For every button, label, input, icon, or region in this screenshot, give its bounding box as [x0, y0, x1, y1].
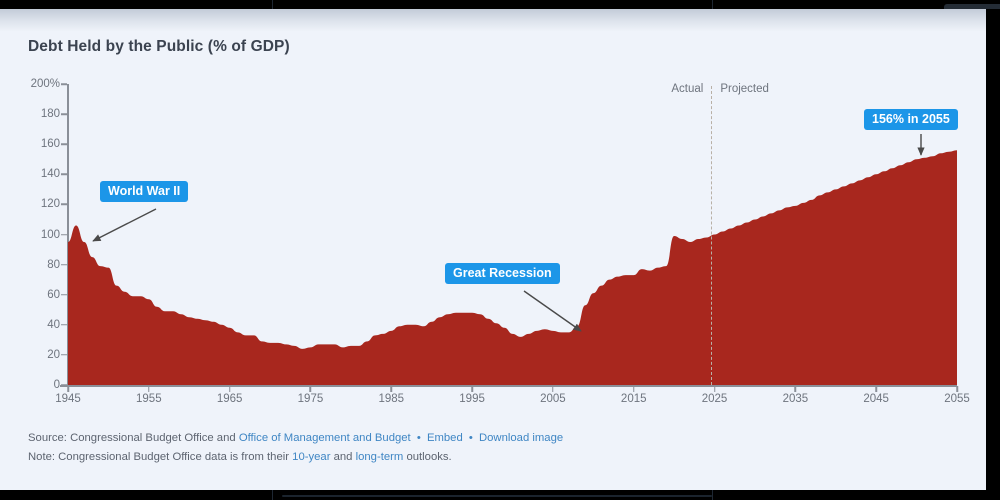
bottom-seam-right — [712, 490, 713, 500]
footer-note-line: Note: Congressional Budget Office data i… — [28, 448, 968, 467]
x-tick-label: 1975 — [298, 393, 324, 405]
x-tick-label: 2035 — [783, 393, 809, 405]
x-tick-label: 1995 — [459, 393, 485, 405]
x-tick-mark — [552, 386, 554, 392]
x-tick-mark — [714, 386, 716, 392]
footer-bullet-1: • — [414, 432, 424, 444]
y-tick-label: 200% — [16, 78, 60, 90]
annotation-badge: Great Recession — [445, 263, 560, 284]
x-tick-mark — [67, 386, 69, 392]
x-tick-mark — [633, 386, 635, 392]
y-tick-label: 0 — [16, 379, 60, 391]
y-tick-label: 100 — [16, 229, 60, 241]
screen: Debt Held by the Public (% of GDP) 02040… — [0, 0, 1000, 500]
divider-label-actual: Actual — [671, 83, 703, 95]
x-tick-mark — [391, 386, 393, 392]
x-tick-label: 2025 — [702, 393, 728, 405]
right-gutter — [986, 9, 1000, 490]
footer-note-middle: and — [334, 451, 353, 463]
y-tick-label: 160 — [16, 138, 60, 150]
x-tick-label: 1955 — [136, 393, 162, 405]
x-axis-spine — [60, 385, 957, 387]
x-tick-label: 2015 — [621, 393, 647, 405]
y-tick-label: 40 — [16, 319, 60, 331]
x-tick-label: 1985 — [378, 393, 404, 405]
browser-bottom-strip — [0, 490, 1000, 500]
projection-divider-line — [711, 86, 712, 385]
x-tick-mark — [956, 386, 958, 392]
footer-note-prefix: Note: Congressional Budget Office data i… — [28, 451, 289, 463]
x-tick-mark — [148, 386, 150, 392]
bottom-seam-left — [272, 490, 273, 500]
y-tick-label: 60 — [16, 289, 60, 301]
window-seam-right — [712, 0, 713, 9]
page-title: Debt Held by the Public (% of GDP) — [28, 38, 290, 56]
link-10-year-outlook[interactable]: 10-year — [292, 451, 330, 463]
link-download-image[interactable]: Download image — [479, 432, 563, 444]
annotation-badge: World War II — [100, 181, 188, 202]
footer-source-line: Source: Congressional Budget Office and … — [28, 429, 968, 448]
x-tick-mark — [310, 386, 312, 392]
y-tick-label: 80 — [16, 259, 60, 271]
x-tick-mark — [875, 386, 877, 392]
annotation-badge: 156% in 2055 — [864, 109, 958, 130]
x-tick-mark — [795, 386, 797, 392]
x-tick-label: 1945 — [55, 393, 81, 405]
x-tick-label: 2045 — [863, 393, 889, 405]
x-tick-label: 1965 — [217, 393, 243, 405]
browser-top-strip — [0, 0, 1000, 9]
y-tick-label: 20 — [16, 349, 60, 361]
area-chart-series — [68, 84, 957, 385]
y-tick-label: 140 — [16, 168, 60, 180]
footer-source-prefix: Source: Congressional Budget Office and — [28, 432, 236, 444]
x-tick-mark — [471, 386, 473, 392]
x-tick-label: 2055 — [944, 393, 970, 405]
x-tick-label: 2005 — [540, 393, 566, 405]
browser-chrome-band — [0, 9, 1000, 31]
link-embed[interactable]: Embed — [427, 432, 463, 444]
footer-bullet-2: • — [466, 432, 476, 444]
chart-page: Debt Held by the Public (% of GDP) 02040… — [0, 31, 986, 490]
window-seam-left — [272, 0, 273, 9]
link-office-of-management-and-budget[interactable]: Office of Management and Budget — [239, 432, 411, 444]
footer-note-suffix: outlooks. — [406, 451, 451, 463]
plot-area — [68, 84, 957, 385]
link-long-term-outlook[interactable]: long-term — [356, 451, 404, 463]
footer: Source: Congressional Budget Office and … — [28, 429, 968, 467]
divider-label-projected: Projected — [720, 83, 769, 95]
x-tick-mark — [229, 386, 231, 392]
y-tick-label: 120 — [16, 198, 60, 210]
y-axis: 020406080100120140160180200% — [0, 31, 60, 490]
bottom-bar-line — [282, 495, 712, 497]
y-tick-label: 180 — [16, 108, 60, 120]
